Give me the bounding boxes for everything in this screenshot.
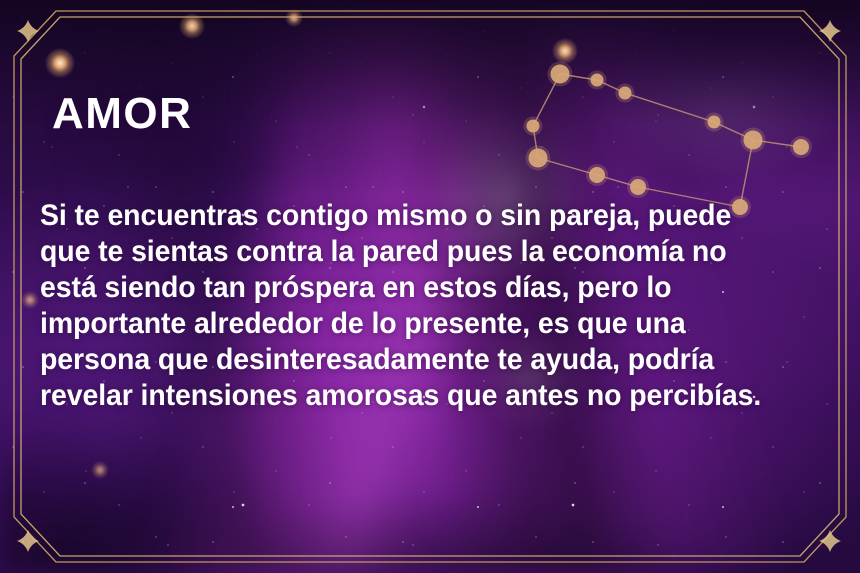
warm-star (285, 9, 303, 27)
constellation-edge (560, 74, 597, 80)
body-line: está siendo tan próspera en estos días, … (40, 271, 671, 304)
body-line: Si te encuentras contigo mismo o sin par… (40, 199, 731, 232)
warm-star (552, 38, 578, 64)
body-paragraph: Si te encuentras contigo mismo o sin par… (40, 136, 802, 414)
body-line: revelar intensiones amorosas que antes n… (40, 379, 761, 412)
body-line: que te sientas contra la pared pues la e… (40, 235, 727, 268)
sparkle-icon (17, 20, 39, 42)
warm-star (91, 461, 109, 479)
sparkle-icon (17, 530, 39, 552)
sparkle-icon (819, 530, 841, 552)
warm-star (45, 48, 76, 79)
body-line: importante alrededor de lo presente, es … (40, 307, 686, 340)
page-title: AMOR (52, 92, 830, 136)
warm-star (179, 13, 205, 39)
constellation-node (591, 74, 604, 87)
text-content: AMOR Si te encuentras contigo mismo o si… (40, 92, 830, 414)
horoscope-card: AMOR Si te encuentras contigo mismo o si… (0, 0, 860, 573)
warm-star (21, 291, 39, 309)
constellation-node-halo (588, 71, 607, 90)
constellation-node (551, 65, 570, 84)
body-line: persona que desinteresadamente te ayuda,… (40, 343, 714, 376)
constellation-node-halo (548, 62, 573, 87)
sparkle-icon (819, 20, 841, 42)
